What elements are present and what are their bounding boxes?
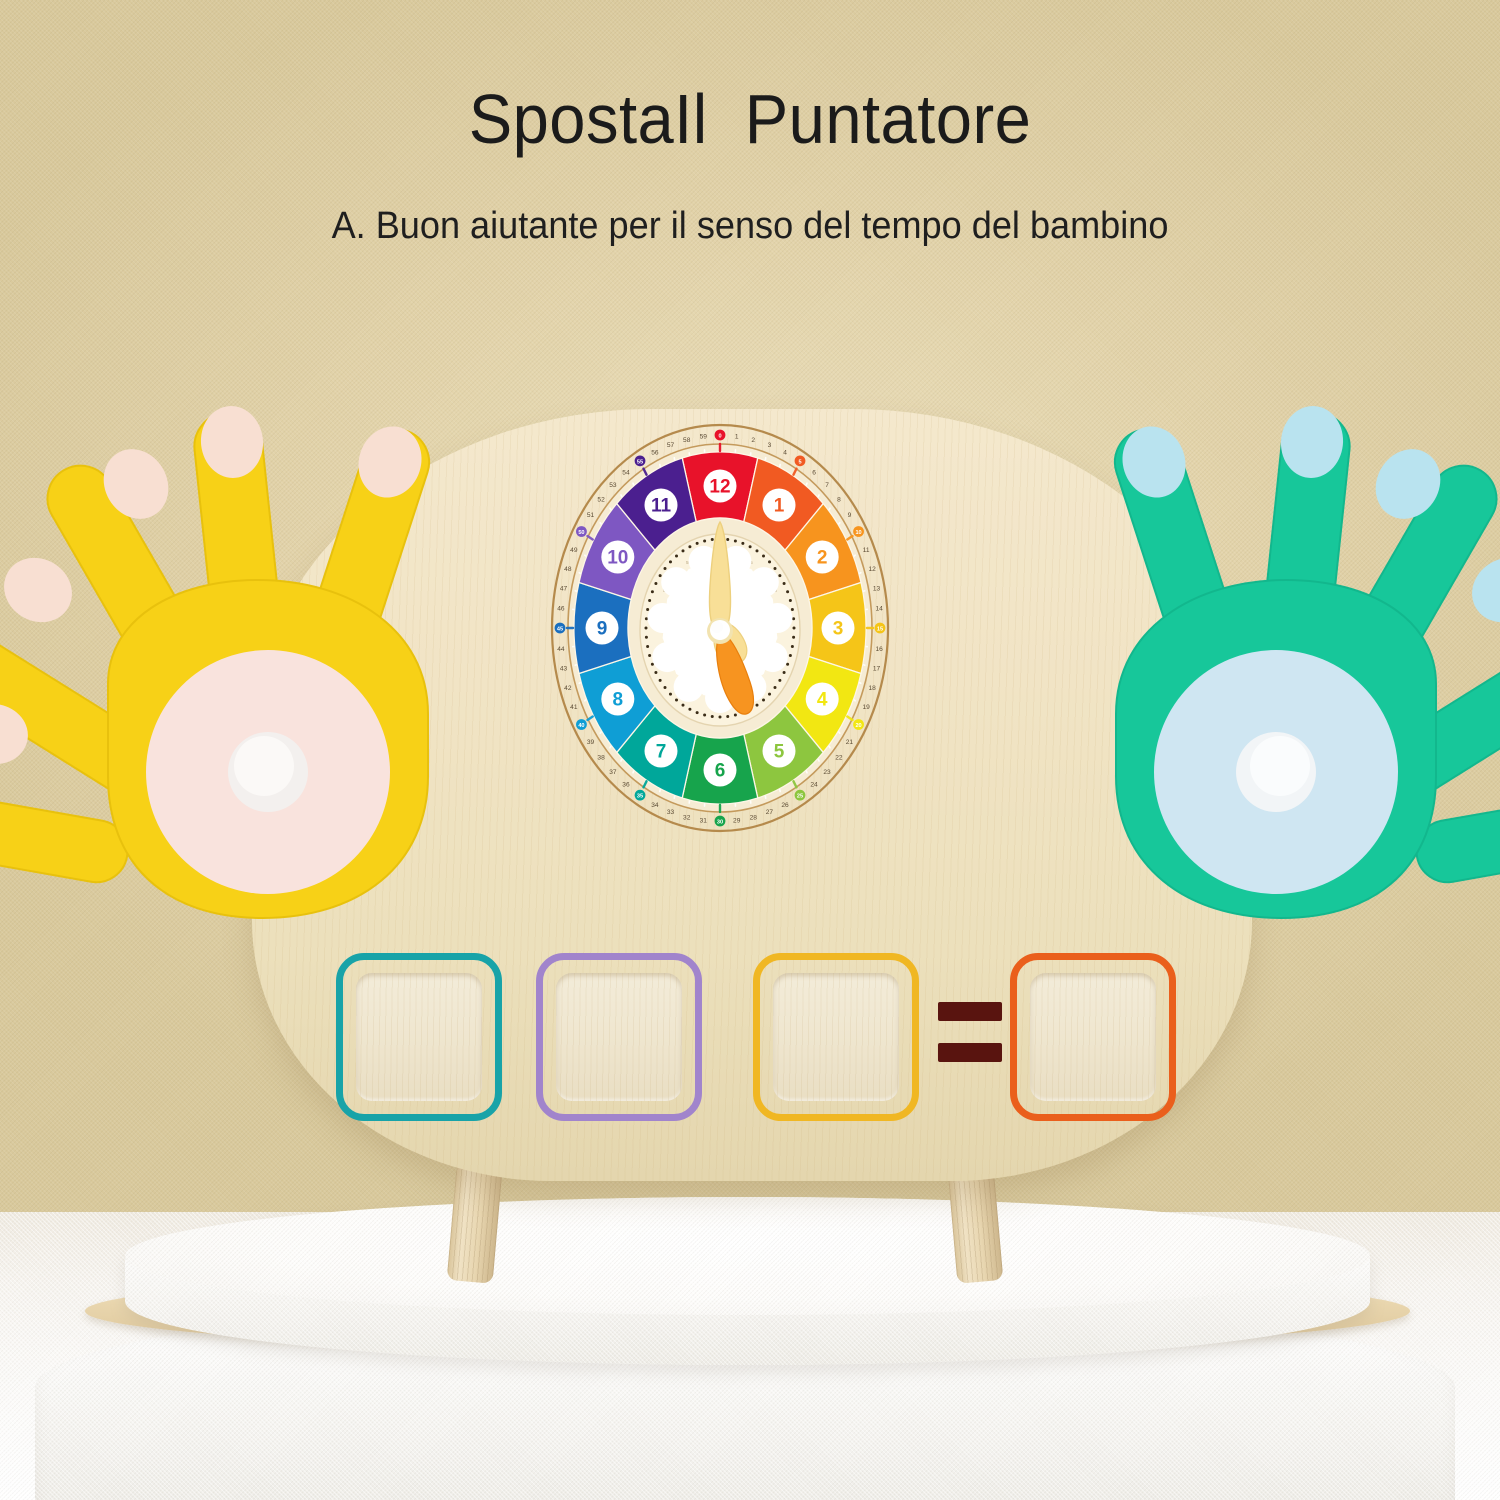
svg-text:26: 26 xyxy=(781,802,789,809)
svg-text:20: 20 xyxy=(855,723,861,729)
svg-text:43: 43 xyxy=(560,666,568,673)
svg-text:59: 59 xyxy=(700,434,708,441)
card-slot-3[interactable] xyxy=(753,953,919,1121)
yellow-felt-hand[interactable] xyxy=(0,384,558,924)
svg-text:54: 54 xyxy=(622,469,630,476)
svg-text:5: 5 xyxy=(774,742,785,763)
svg-text:12: 12 xyxy=(709,477,730,498)
svg-text:22: 22 xyxy=(835,755,843,762)
page-title: SpostaIl Puntatore xyxy=(53,84,1448,154)
svg-text:55: 55 xyxy=(637,459,643,465)
svg-text:8: 8 xyxy=(837,496,841,503)
svg-text:15: 15 xyxy=(877,626,883,632)
svg-text:56: 56 xyxy=(651,449,659,456)
card-slot-4[interactable] xyxy=(1010,953,1176,1121)
svg-text:3: 3 xyxy=(768,442,772,449)
card-slot-2-recess xyxy=(556,973,682,1101)
svg-text:52: 52 xyxy=(597,496,605,503)
svg-text:51: 51 xyxy=(587,512,595,519)
clock-face[interactable]: 0123456789101112131415161718192021222324… xyxy=(546,418,894,838)
svg-text:36: 36 xyxy=(622,782,630,789)
svg-text:3: 3 xyxy=(833,619,844,640)
svg-text:30: 30 xyxy=(717,819,723,825)
svg-text:8: 8 xyxy=(613,690,624,711)
svg-text:5: 5 xyxy=(798,459,801,465)
svg-text:37: 37 xyxy=(609,769,617,776)
svg-text:32: 32 xyxy=(683,814,691,821)
svg-text:16: 16 xyxy=(875,646,883,653)
svg-text:44: 44 xyxy=(557,646,565,653)
svg-text:11: 11 xyxy=(651,496,672,517)
svg-text:48: 48 xyxy=(564,566,572,573)
svg-text:28: 28 xyxy=(750,814,758,821)
page-subtitle: A. Buon aiutante per il senso del tempo … xyxy=(38,207,1463,245)
pedestal-upper-top-face xyxy=(125,1197,1370,1315)
svg-text:6: 6 xyxy=(812,469,816,476)
card-slot-1[interactable] xyxy=(336,953,502,1121)
svg-text:10: 10 xyxy=(855,530,861,536)
svg-text:41: 41 xyxy=(570,704,578,711)
svg-text:40: 40 xyxy=(578,723,584,729)
svg-text:21: 21 xyxy=(846,739,854,746)
equals-sign xyxy=(938,1002,1002,1064)
svg-text:50: 50 xyxy=(578,530,584,536)
svg-text:31: 31 xyxy=(700,818,708,825)
svg-text:9: 9 xyxy=(597,619,608,640)
svg-text:29: 29 xyxy=(733,818,741,825)
card-slot-4-recess xyxy=(1030,973,1156,1101)
svg-text:46: 46 xyxy=(557,605,565,612)
svg-text:13: 13 xyxy=(873,585,881,592)
svg-text:47: 47 xyxy=(560,585,568,592)
svg-text:1: 1 xyxy=(774,496,785,517)
svg-text:38: 38 xyxy=(597,755,605,762)
card-slot-1-recess xyxy=(356,973,482,1101)
card-slot-3-recess xyxy=(773,973,899,1101)
svg-text:7: 7 xyxy=(656,742,667,763)
svg-text:18: 18 xyxy=(868,685,876,692)
product-photo-scene: SpostaIl Puntatore A. Buon aiutante per … xyxy=(0,0,1500,1500)
svg-text:23: 23 xyxy=(823,769,831,776)
svg-text:49: 49 xyxy=(570,547,578,554)
svg-text:9: 9 xyxy=(848,512,852,519)
svg-text:34: 34 xyxy=(651,802,659,809)
svg-text:1: 1 xyxy=(735,434,739,441)
svg-text:25: 25 xyxy=(797,794,803,800)
svg-text:2: 2 xyxy=(817,548,828,569)
svg-text:0: 0 xyxy=(718,433,721,439)
svg-text:19: 19 xyxy=(862,704,870,711)
svg-text:14: 14 xyxy=(875,605,883,612)
svg-text:6: 6 xyxy=(715,761,726,782)
teaching-clock[interactable]: 0123456789101112131415161718192021222324… xyxy=(546,418,894,838)
svg-text:4: 4 xyxy=(817,690,828,711)
svg-text:45: 45 xyxy=(557,626,563,632)
svg-text:58: 58 xyxy=(683,437,691,444)
svg-text:12: 12 xyxy=(868,566,876,573)
teal-felt-hand[interactable] xyxy=(986,384,1500,924)
svg-text:35: 35 xyxy=(637,794,643,800)
svg-text:39: 39 xyxy=(587,739,595,746)
svg-text:2: 2 xyxy=(751,437,755,444)
svg-text:7: 7 xyxy=(825,482,829,489)
svg-text:27: 27 xyxy=(766,809,774,816)
svg-text:57: 57 xyxy=(667,442,675,449)
svg-text:10: 10 xyxy=(607,548,628,569)
card-slot-2[interactable] xyxy=(536,953,702,1121)
svg-text:42: 42 xyxy=(564,685,572,692)
svg-text:4: 4 xyxy=(783,449,787,456)
svg-text:24: 24 xyxy=(810,782,818,789)
svg-text:11: 11 xyxy=(863,547,870,554)
svg-text:17: 17 xyxy=(873,666,881,673)
svg-text:33: 33 xyxy=(667,809,675,816)
svg-text:53: 53 xyxy=(609,482,617,489)
